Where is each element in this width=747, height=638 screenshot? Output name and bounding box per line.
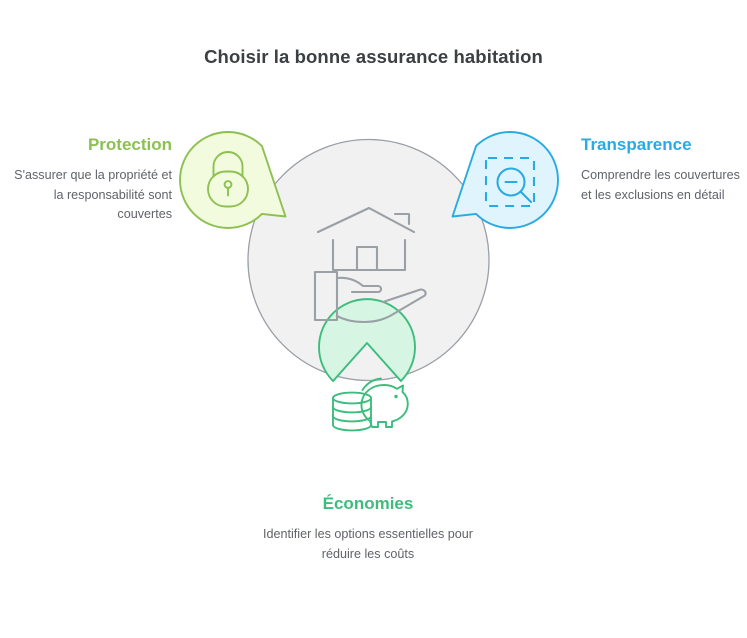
economies-description: Identifier les options essentielles pour… bbox=[255, 525, 481, 564]
transparence-description: Comprendre les couvertures et les exclus… bbox=[581, 166, 745, 205]
node-label-protection: Protection S'assurer que la propriété et… bbox=[4, 134, 172, 225]
transparence-heading: Transparence bbox=[581, 134, 745, 155]
economies-heading: Économies bbox=[255, 493, 481, 514]
node-pin-protection[interactable] bbox=[180, 132, 286, 228]
node-label-transparence: Transparence Comprendre les couvertures … bbox=[581, 134, 745, 205]
protection-pin-shape bbox=[180, 132, 286, 228]
protection-description: S'assurer que la propriété et la respons… bbox=[4, 166, 172, 225]
node-pin-transparence[interactable] bbox=[453, 132, 559, 228]
node-label-economies: Économies Identifier les options essenti… bbox=[255, 493, 481, 564]
protection-heading: Protection bbox=[4, 134, 172, 155]
coin-stack-icon bbox=[333, 393, 371, 431]
piggy-bank-coins-icon bbox=[333, 379, 408, 431]
infographic-canvas: Choisir la bonne assurance habitation bbox=[0, 0, 747, 638]
